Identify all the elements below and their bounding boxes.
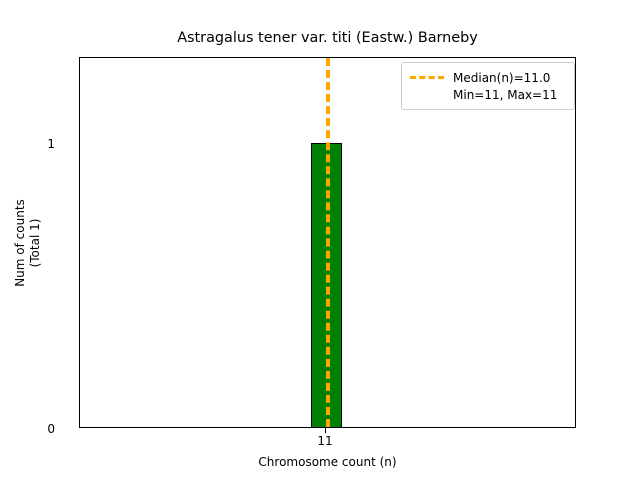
- legend-label-minmax: Min=11, Max=11: [453, 88, 557, 102]
- y-axis-label-container: Num of counts (Total 1): [0, 57, 56, 428]
- legend-label-median: Median(n)=11.0: [453, 71, 550, 85]
- legend-item-minmax: Min=11, Max=11: [410, 86, 566, 103]
- x-tick-label-11: 11: [317, 434, 332, 448]
- y-tick-label-0: 0: [47, 422, 55, 436]
- chart-title: Astragalus tener var. titi (Eastw.) Barn…: [79, 30, 576, 47]
- x-axis-label: Chromosome count (n): [79, 455, 576, 469]
- y-axis-label: Num of counts (Total 1): [13, 199, 43, 287]
- y-axis-label-line2: (Total 1): [28, 199, 43, 287]
- x-tick-mark-11: [325, 428, 326, 433]
- median-line: [326, 58, 330, 427]
- legend-item-median: Median(n)=11.0: [410, 69, 566, 86]
- plot-area: [79, 57, 576, 428]
- legend: Median(n)=11.0 Min=11, Max=11: [401, 62, 575, 110]
- y-tick-label-1: 1: [47, 137, 55, 151]
- figure-canvas: Astragalus tener var. titi (Eastw.) Barn…: [0, 0, 640, 480]
- y-axis-label-line1: Num of counts: [13, 199, 27, 287]
- legend-dashed-line-swatch: [410, 76, 444, 79]
- y-tick-mark-1: [79, 143, 80, 144]
